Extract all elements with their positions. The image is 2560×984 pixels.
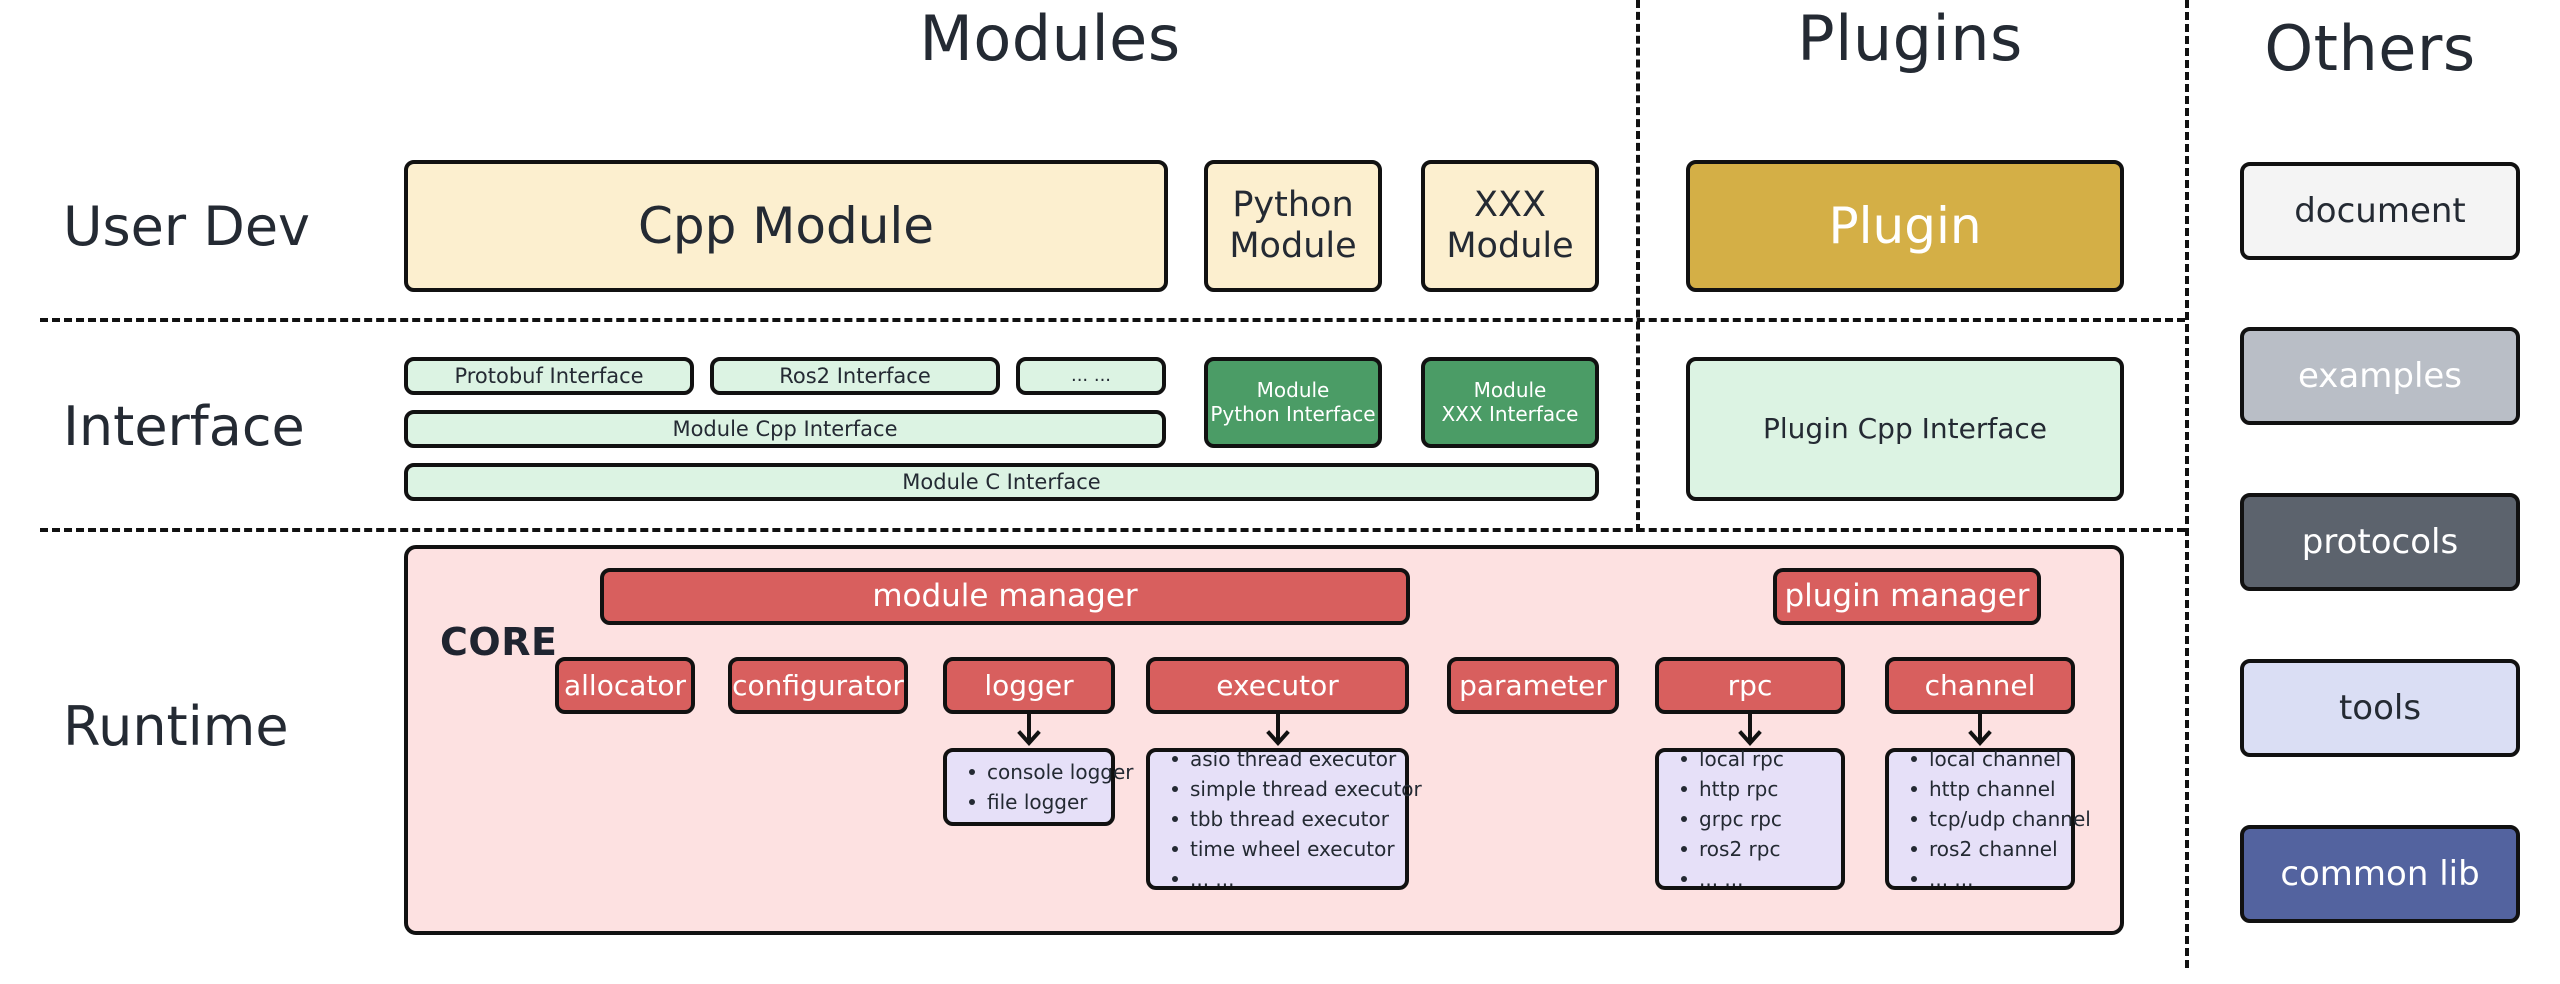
xxx-module-label-line1: XXX [1474,185,1546,226]
others-common-lib-box[interactable]: common lib [2240,825,2520,923]
component-allocator-box[interactable]: allocator [555,657,695,714]
row-label-runtime: Runtime [63,700,289,754]
channel-details-list: local channel http channel tcp/udp chann… [1903,744,2061,894]
horizontal-divider-interface-runtime [40,528,2185,532]
rpc-details-list: local rpc http rpc grpc rpc ros2 rpc ...… [1673,744,1831,894]
column-header-others: Others [2195,18,2545,80]
component-configurator-label: configurator [732,669,904,702]
list-item: ros2 channel [1929,834,2061,864]
python-module-box[interactable]: Python Module [1204,160,1382,292]
logger-details-box: console logger file logger [943,748,1115,826]
module-cpp-interface-box[interactable]: Module Cpp Interface [404,410,1166,448]
list-item: tbb thread executor [1190,804,1395,834]
more-interface-box[interactable]: ... ... [1016,357,1166,395]
module-manager-box[interactable]: module manager [600,568,1410,625]
python-module-label-line2: Module [1229,226,1356,267]
component-logger-box[interactable]: logger [943,657,1115,714]
component-configurator-box[interactable]: configurator [728,657,908,714]
list-item: http rpc [1699,774,1831,804]
list-item: console logger [987,757,1101,787]
vertical-divider-plugins-others [2185,0,2189,968]
component-allocator-label: allocator [564,669,686,702]
vertical-divider-modules-plugins [1636,0,1640,532]
list-item: grpc rpc [1699,804,1831,834]
others-common-lib-label: common lib [2280,854,2479,894]
component-executor-label: executor [1216,669,1338,702]
plugin-cpp-interface-label: Plugin Cpp Interface [1763,412,2047,445]
plugin-box[interactable]: Plugin [1686,160,2124,292]
cpp-module-label: Cpp Module [638,197,934,256]
plugin-cpp-interface-box[interactable]: Plugin Cpp Interface [1686,357,2124,501]
list-item: local rpc [1699,744,1831,774]
arrow-executor-to-details [1263,714,1293,748]
cpp-module-box[interactable]: Cpp Module [404,160,1168,292]
plugin-manager-label: plugin manager [1784,578,2029,615]
others-document-box[interactable]: document [2240,162,2520,260]
others-protocols-label: protocols [2302,522,2458,562]
plugin-label: Plugin [1828,197,1981,256]
more-interface-label: ... ... [1071,365,1111,386]
list-item: file logger [987,787,1101,817]
list-item: tcp/udp channel [1929,804,2061,834]
list-item: asio thread executor [1190,744,1395,774]
others-tools-box[interactable]: tools [2240,659,2520,757]
arrow-logger-to-details [1014,714,1044,748]
column-header-modules: Modules [700,8,1400,70]
component-logger-label: logger [984,669,1073,702]
module-c-interface-box[interactable]: Module C Interface [404,463,1599,501]
module-manager-label: module manager [872,578,1137,615]
list-item: http channel [1929,774,2061,804]
rpc-details-box: local rpc http rpc grpc rpc ros2 rpc ...… [1655,748,1845,890]
row-label-user-dev: User Dev [63,200,310,254]
module-xxx-interface-box[interactable]: Module XXX Interface [1421,357,1599,448]
others-protocols-box[interactable]: protocols [2240,493,2520,591]
others-document-label: document [2294,191,2466,231]
others-examples-box[interactable]: examples [2240,327,2520,425]
protobuf-interface-label: Protobuf Interface [454,364,643,389]
row-label-interface: Interface [63,400,305,454]
arrow-rpc-to-details [1735,714,1765,748]
list-item: ros2 rpc [1699,834,1831,864]
executor-details-list: asio thread executor simple thread execu… [1164,744,1395,894]
others-examples-label: examples [2298,356,2462,396]
ros2-interface-label: Ros2 Interface [779,364,931,389]
module-python-interface-label-line1: Module [1257,379,1330,403]
list-item: ... ... [1190,864,1395,894]
xxx-module-box[interactable]: XXX Module [1421,160,1599,292]
horizontal-divider-userdev-interface [40,318,2185,322]
component-parameter-label: parameter [1459,669,1607,702]
list-item: ... ... [1929,864,2061,894]
module-xxx-interface-label-line2: XXX Interface [1441,403,1578,427]
ros2-interface-box[interactable]: Ros2 Interface [710,357,1000,395]
component-parameter-box[interactable]: parameter [1447,657,1619,714]
executor-details-box: asio thread executor simple thread execu… [1146,748,1409,890]
architecture-diagram: Modules Plugins Others User Dev Interfac… [0,0,2560,984]
core-label: CORE [440,620,557,664]
component-rpc-box[interactable]: rpc [1655,657,1845,714]
module-python-interface-label-line2: Python Interface [1210,403,1375,427]
xxx-module-label-line2: Module [1446,226,1573,267]
module-python-interface-box[interactable]: Module Python Interface [1204,357,1382,448]
logger-details-list: console logger file logger [961,757,1101,817]
list-item: local channel [1929,744,2061,774]
list-item: time wheel executor [1190,834,1395,864]
module-xxx-interface-label-line1: Module [1474,379,1547,403]
channel-details-box: local channel http channel tcp/udp chann… [1885,748,2075,890]
list-item: simple thread executor [1190,774,1395,804]
component-channel-box[interactable]: channel [1885,657,2075,714]
component-rpc-label: rpc [1728,669,1773,702]
column-header-plugins: Plugins [1650,8,2170,70]
others-tools-label: tools [2339,688,2421,728]
list-item: ... ... [1699,864,1831,894]
python-module-label-line1: Python [1232,185,1353,226]
plugin-manager-box[interactable]: plugin manager [1773,568,2041,625]
module-c-interface-label: Module C Interface [902,470,1100,495]
arrow-channel-to-details [1965,714,1995,748]
protobuf-interface-box[interactable]: Protobuf Interface [404,357,694,395]
component-executor-box[interactable]: executor [1146,657,1409,714]
module-cpp-interface-label: Module Cpp Interface [672,417,897,442]
component-channel-label: channel [1925,669,2036,702]
